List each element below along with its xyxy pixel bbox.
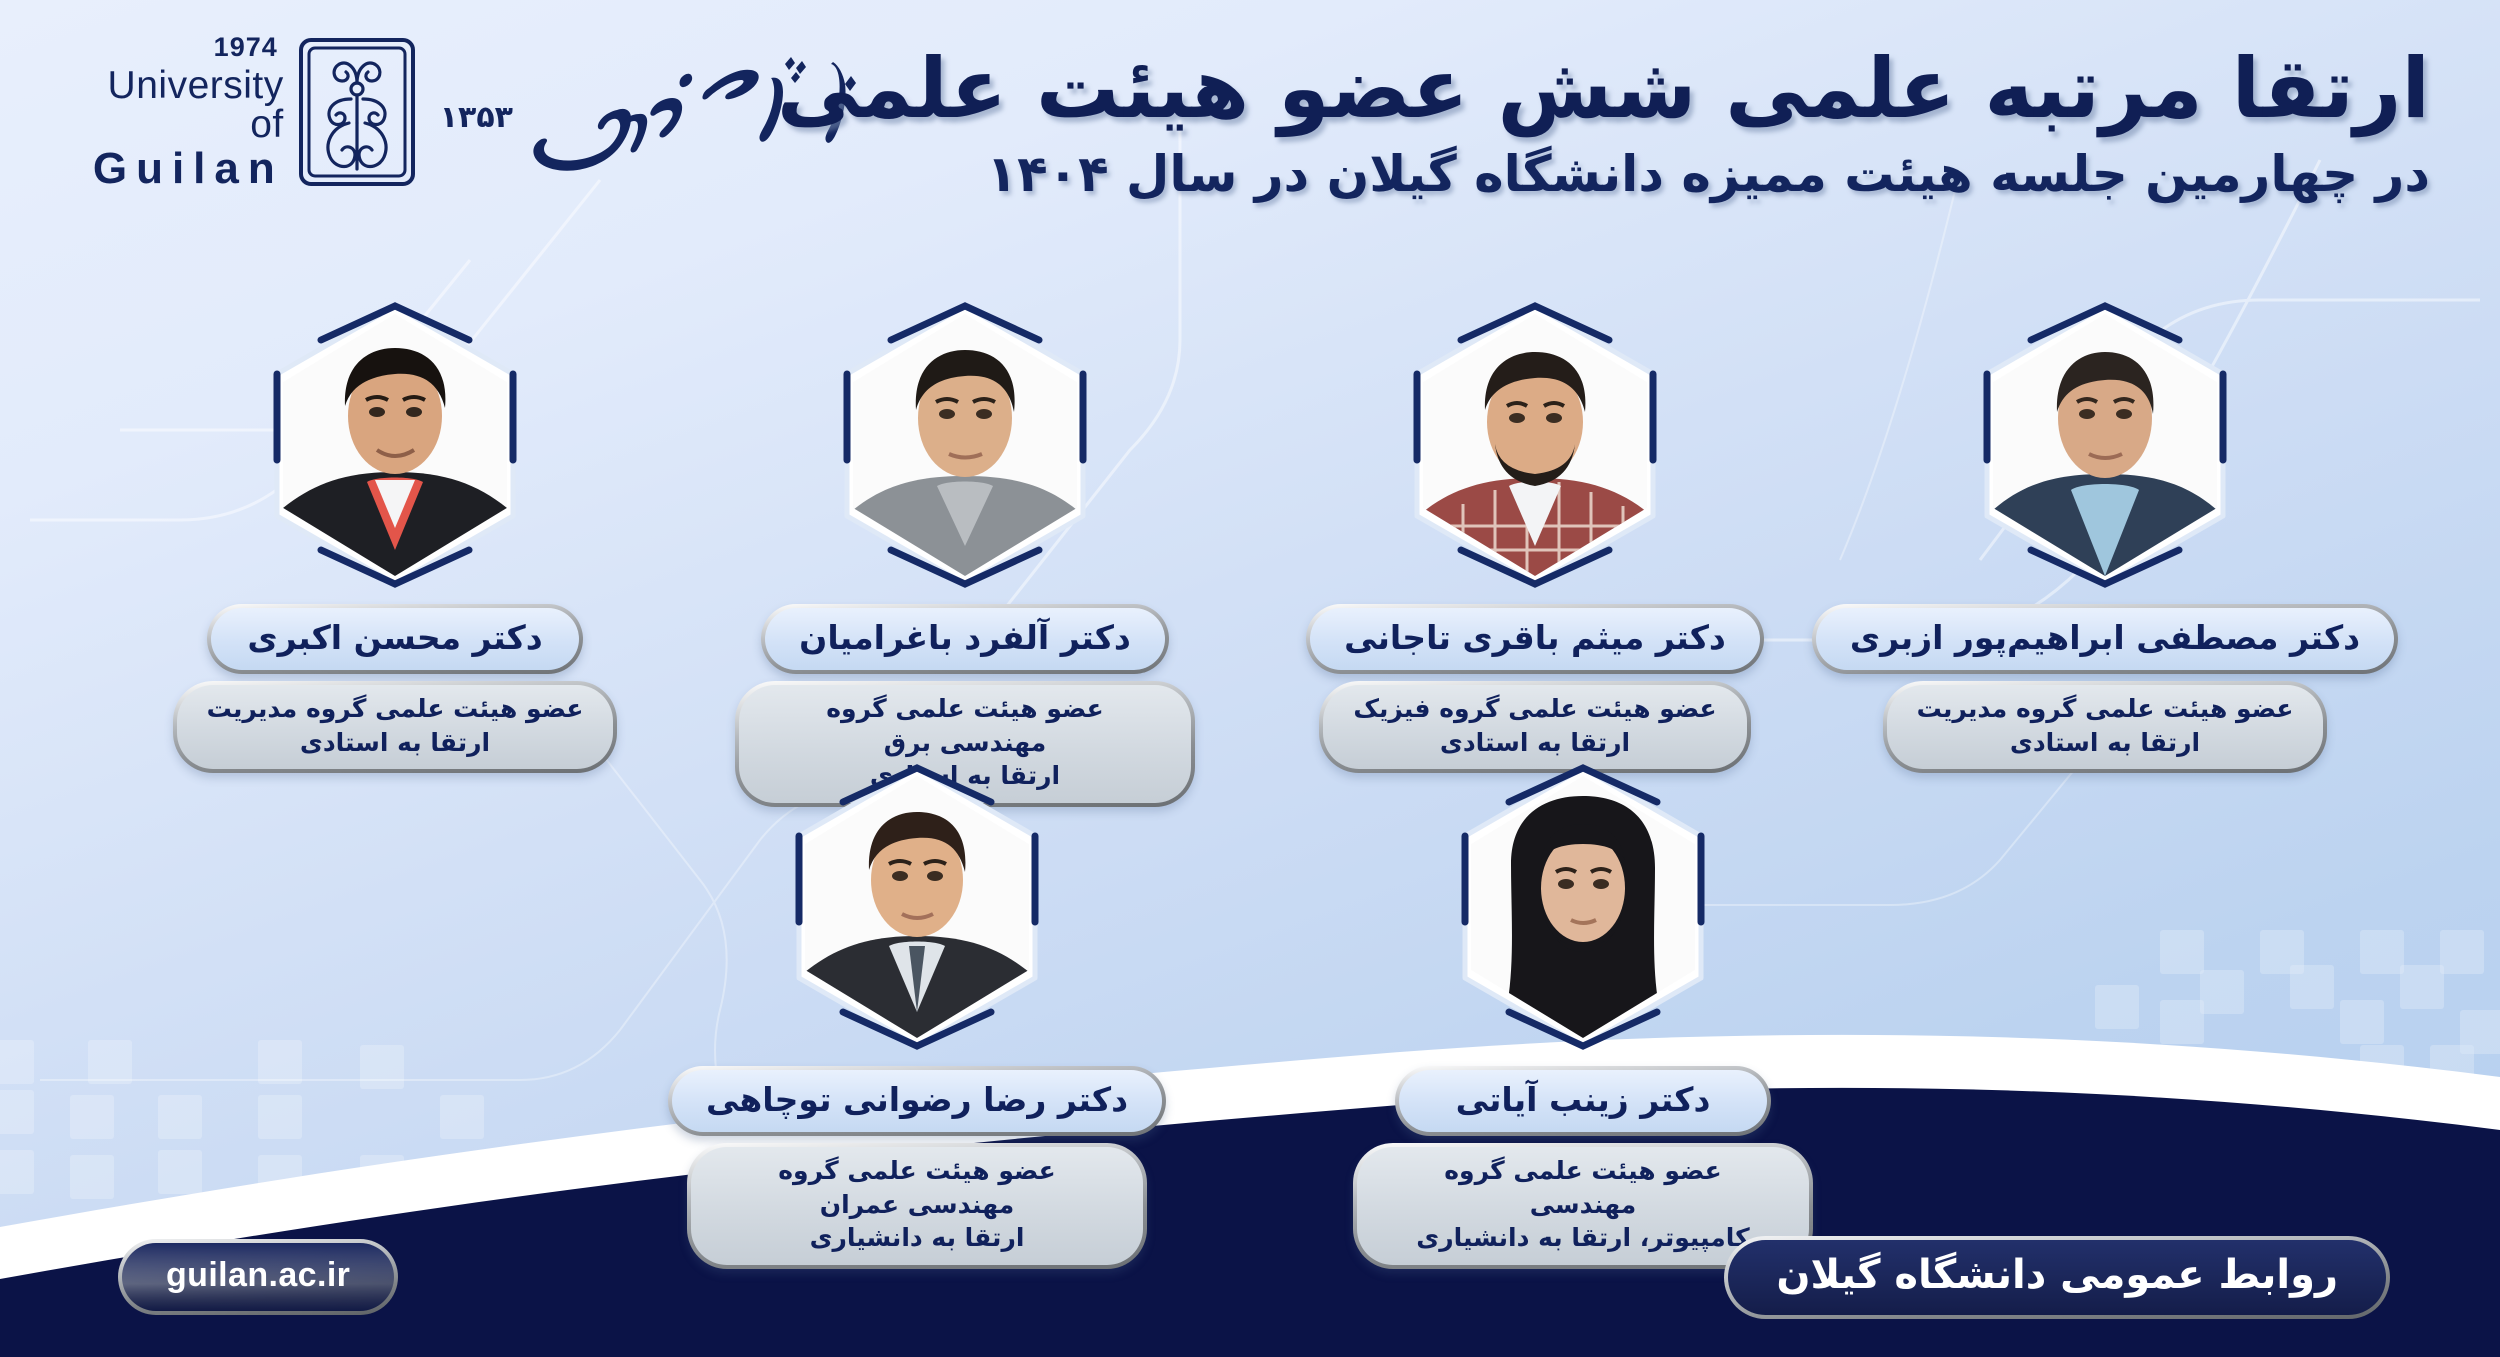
person-name: دکتر آلفرد باغرامیان	[761, 604, 1169, 674]
person-card[interactable]: دکتر زینب آیاتی عضو هیئت علمی گروه مهندس…	[1353, 762, 1813, 1269]
university-logo: 1974 University of Guilan	[78, 34, 858, 194]
person-role: عضو هیئت علمی گروه فیزیک ارتقا به استادی	[1319, 681, 1750, 773]
person-card[interactable]: دکتر میثم باقری تاجانی عضو هیئت علمی گرو…	[1305, 300, 1765, 807]
hexagon-photo-frame	[783, 762, 1051, 1052]
person-card[interactable]: دکتر مصطفی ابراهیم‌پور ازبری عضو هیئت عل…	[1875, 300, 2335, 807]
hexagon-photo-frame	[1971, 300, 2239, 590]
hexagon-photo-frame	[1449, 762, 1717, 1052]
logo-founding-year-fa: ۱۳۵۳	[440, 100, 513, 135]
person-role: عضو هیئت علمی گروه مدیریت ارتقا به استاد…	[1883, 681, 2328, 773]
logo-founding-year-en: 1974	[78, 34, 278, 61]
public-relations-label: روابط عمومی دانشگاه گیلان	[1724, 1236, 2390, 1319]
poster-canvas: 1974 University of Guilan	[0, 0, 2500, 1357]
people-row-top: دکتر مصطفی ابراهیم‌پور ازبری عضو هیئت عل…	[0, 300, 2500, 807]
person-name: دکتر رضا رضوانی توچاهی	[668, 1066, 1166, 1136]
person-name: دکتر مصطفی ابراهیم‌پور ازبری	[1812, 604, 2398, 674]
page-subtitle: در چهارمین جلسه هیئت ممیزه دانشگاه گیلان…	[1090, 144, 2430, 204]
person-name: دکتر میثم باقری تاجانی	[1306, 604, 1764, 674]
person-card[interactable]: دکتر آلفرد باغرامیان عضو هیئت علمی گروه …	[735, 300, 1195, 807]
guilan-emblem-icon	[298, 37, 416, 191]
person-name: دکتر زینب آیاتی	[1395, 1066, 1771, 1136]
website-link[interactable]: guilan.ac.ir	[118, 1239, 398, 1315]
logo-university-word: University of	[78, 66, 284, 144]
logo-english-text: 1974 University of Guilan	[78, 34, 284, 195]
header-title-block: ارتقا مرتبه علمی شش عضو هیئت علمی در چها…	[1090, 40, 2430, 204]
hexagon-photo-frame	[261, 300, 529, 590]
person-card[interactable]: دکتر محسن اکبری عضو هیئت علمی گروه مدیری…	[165, 300, 625, 807]
person-role: عضو هیئت علمی گروه مدیریت ارتقا به استاد…	[173, 681, 618, 773]
hexagon-photo-frame	[1401, 300, 1669, 590]
person-role: عضو هیئت علمی گروه مهندسی عمران ارتقا به…	[687, 1143, 1147, 1269]
logo-guilan-word: Guilan	[78, 147, 284, 191]
people-row-bottom: دکتر زینب آیاتی عضو هیئت علمی گروه مهندس…	[0, 762, 2500, 1269]
page-title: ارتقا مرتبه علمی شش عضو هیئت علمی	[1090, 40, 2430, 138]
hexagon-photo-frame	[831, 300, 1099, 590]
person-name: دکتر محسن اکبری	[207, 604, 583, 674]
person-card[interactable]: دکتر رضا رضوانی توچاهی عضو هیئت علمی گرو…	[687, 762, 1147, 1269]
